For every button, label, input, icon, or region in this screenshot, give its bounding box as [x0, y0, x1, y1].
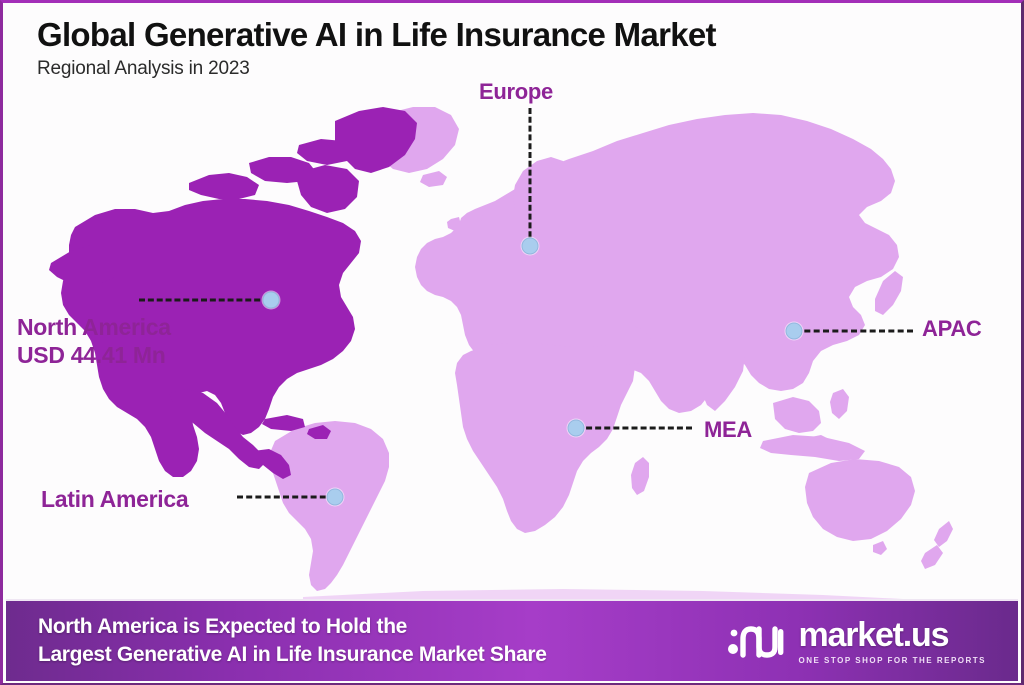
market-us-logo-words: market.us ONE STOP SHOP FOR THE REPORTS [798, 618, 986, 665]
infographic-page: Global Generative AI in Life Insurance M… [0, 0, 1024, 685]
region-shape-cuba [262, 415, 305, 431]
banner-line-1: North America is Expected to Hold the [38, 613, 547, 641]
region-shape-japan [875, 271, 903, 315]
region-name-north-america: North America [17, 313, 171, 341]
region-label-apac: APAC [922, 316, 982, 343]
banner-line-2: Largest Generative AI in Life Insurance … [38, 641, 547, 669]
region-name-mea: MEA [704, 417, 752, 444]
region-label-north-america: North America USD 44.41 Mn [17, 313, 171, 369]
region-shape-south-america [269, 421, 389, 591]
region-shape-southeast-asia [773, 397, 821, 433]
region-label-mea: MEA [704, 417, 752, 444]
footer-banner: North America is Expected to Hold the La… [6, 599, 1018, 681]
region-shape-canadian-arctic-1 [189, 173, 259, 199]
region-label-europe: Europe [479, 79, 553, 106]
logo-tagline: ONE STOP SHOP FOR THE REPORTS [798, 656, 986, 665]
map-base-continents [269, 107, 953, 591]
map-highlight-north-america [49, 107, 417, 479]
leader-line-latin-america [237, 496, 335, 499]
leader-line-apac [795, 330, 913, 333]
banner-message: North America is Expected to Hold the La… [38, 613, 547, 669]
region-name-europe: Europe [479, 79, 553, 106]
region-label-latin-america: Latin America [41, 485, 188, 513]
leader-line-mea [577, 427, 692, 430]
market-us-logo[interactable]: market.us ONE STOP SHOP FOR THE REPORTS [725, 618, 992, 665]
region-shape-africa [455, 343, 635, 533]
map-marker-north-america[interactable] [263, 292, 280, 309]
region-shape-iceland [420, 171, 447, 187]
region-shape-new-zealand [934, 521, 953, 547]
logo-name: market.us [798, 618, 948, 652]
region-shape-philippines [830, 389, 849, 419]
region-name-apac: APAC [922, 316, 982, 343]
leader-line-north-america [139, 299, 269, 302]
region-shape-madagascar [631, 457, 649, 495]
region-name-latin-america: Latin America [41, 485, 188, 513]
region-shape-australia [805, 459, 915, 541]
region-value-north-america: USD 44.41 Mn [17, 341, 171, 369]
map-marker-apac[interactable] [786, 323, 803, 340]
map-marker-latin-america[interactable] [327, 489, 344, 506]
market-us-logo-mark [725, 619, 787, 663]
map-marker-mea[interactable] [568, 420, 585, 437]
region-shape-tasmania [873, 541, 887, 555]
region-shape-baffin-island [297, 165, 359, 213]
leader-line-europe [529, 108, 532, 246]
region-shape-new-zealand-south [921, 545, 943, 569]
page-title: Global Generative AI in Life Insurance M… [37, 17, 716, 54]
map-marker-europe[interactable] [522, 238, 539, 255]
